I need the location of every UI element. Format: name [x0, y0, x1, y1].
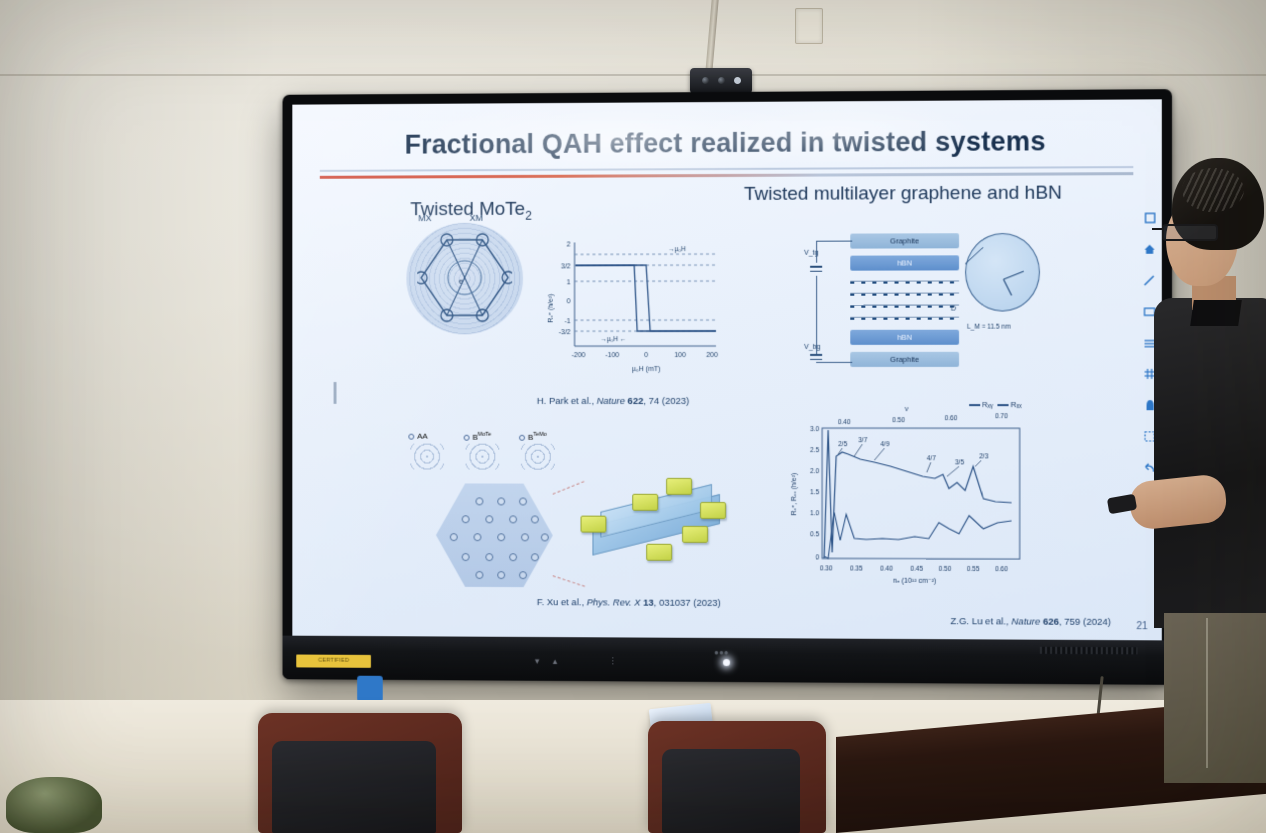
- stack-layer-graphite-top: Graphite: [850, 233, 959, 248]
- callout-detail: [965, 233, 1046, 318]
- hall-bar-device-figure: [575, 472, 734, 582]
- graphene-row-4: [850, 318, 959, 320]
- stack-layer-hbn-top: hBN: [850, 255, 959, 270]
- camera-indicator: [734, 77, 741, 84]
- svg-text:1.0: 1.0: [810, 510, 819, 517]
- legend-swatch-rxx: [997, 404, 1008, 406]
- stacking-configuration-legend: AA BMoTe BTeMo: [408, 432, 566, 478]
- svg-text:4/7: 4/7: [927, 455, 937, 462]
- display-screen[interactable]: Fractional QAH effect realized in twiste…: [292, 99, 1161, 640]
- display-sticker: CERTIFIED: [296, 655, 371, 668]
- svg-text:0.50: 0.50: [892, 417, 905, 424]
- svg-text:-100: -100: [605, 352, 619, 359]
- volume-down-control[interactable]: ▾: [535, 656, 540, 667]
- citation-top-left: H. Park et al., Nature 622, 74 (2023): [537, 396, 689, 407]
- conference-room-scene: Fractional QAH effect realized in twiste…: [0, 0, 1266, 833]
- cite-year: (2023): [693, 598, 720, 609]
- svg-text:1.5: 1.5: [810, 489, 819, 496]
- circuit-wire-top-h: [816, 241, 852, 243]
- cite-journal: Nature: [597, 396, 625, 407]
- moire-site-label-mx: MX: [418, 213, 431, 223]
- circuit-wire-mid: [816, 276, 817, 354]
- svg-text:0.60: 0.60: [945, 415, 958, 422]
- cite-page: 031037: [659, 598, 691, 609]
- volume-up-control[interactable]: ▴: [553, 656, 558, 667]
- display-logo-badge: [357, 676, 383, 702]
- device-contact-2: [632, 494, 658, 511]
- device-contact-4: [700, 502, 726, 519]
- slide-number: 21: [1136, 621, 1147, 632]
- svg-text:0: 0: [567, 298, 571, 305]
- camera-lens-left: [702, 77, 709, 84]
- stack-layer-hbn-bottom: hBN: [850, 330, 959, 345]
- svg-text:2/3: 2/3: [979, 453, 989, 460]
- graphene-row-3: [850, 306, 959, 308]
- cite-authors: H. Park et al.,: [537, 396, 594, 407]
- plant-pot: [6, 777, 102, 833]
- cite-authors: Z.G. Lu et al.,: [950, 616, 1008, 627]
- cite-authors: F. Xu et al.,: [537, 597, 584, 608]
- stacking-item-aa: AA: [408, 432, 427, 441]
- speaker-grill: [1040, 647, 1137, 655]
- svg-text:0.40: 0.40: [838, 419, 851, 426]
- transport-svg: 0.40 0.50 0.60 0.70 ν 3.0 2.5 2.0 1.5: [786, 402, 1038, 588]
- moire-superlattice-dots: [292, 99, 1161, 104]
- svg-text:4/9: 4/9: [880, 441, 889, 448]
- cite-journal: Phys. Rev. X: [587, 597, 641, 608]
- svg-text:2/5: 2/5: [838, 441, 847, 448]
- device-contact-6: [646, 544, 672, 561]
- cite-year: (2024): [1083, 617, 1111, 628]
- stack-layer-graphite-bottom: Graphite: [850, 352, 959, 367]
- cite-page: 759: [1064, 617, 1080, 628]
- svg-text:2.5: 2.5: [810, 447, 819, 454]
- honeycomb-b-temo: [521, 444, 555, 470]
- svg-text:3/2: 3/2: [561, 263, 571, 270]
- presentation-slide: Fractional QAH effect realized in twiste…: [292, 99, 1161, 640]
- svg-text:-1: -1: [564, 318, 570, 325]
- svg-text:0.60: 0.60: [995, 566, 1008, 573]
- svg-text:-200: -200: [572, 352, 586, 359]
- fractional-states-plot: Rₓᵧ Rₓₓ 0.40 0.50 0.60 0.70 ν: [786, 402, 1038, 588]
- moire-wavelength-callout: L_M = 11.5 nm: [967, 324, 1011, 331]
- circuit-wire-bottom-h: [816, 362, 852, 363]
- citation-bottom-right: Z.G. Lu et al., Nature 626, 759 (2024): [950, 616, 1110, 628]
- svg-text:1: 1: [567, 279, 571, 286]
- chair-left-cushion: [272, 741, 436, 833]
- stacking-ring-icon: [408, 434, 414, 440]
- svg-text:0.45: 0.45: [910, 566, 923, 573]
- svg-text:µ₀H (mT): µ₀H (mT): [632, 366, 661, 373]
- cite-year: (2023): [662, 396, 689, 407]
- displacement-field-label: D: [951, 306, 956, 313]
- svg-text:3/7: 3/7: [858, 437, 867, 444]
- svg-text:2.0: 2.0: [810, 468, 819, 475]
- slide-margin-mark: [334, 382, 337, 404]
- menu-control[interactable]: ⋮: [608, 656, 618, 667]
- presenter-pants-seam: [1206, 618, 1208, 768]
- potted-plant: [0, 755, 110, 833]
- battery-bottom: [810, 354, 822, 360]
- cite-volume: 622: [628, 396, 644, 407]
- bottom-gate-label: V_bg: [804, 344, 820, 351]
- device-contact-5: [682, 526, 708, 543]
- legend-label-rxy: Rₓᵧ: [982, 400, 993, 409]
- wall-outlet: [795, 8, 823, 44]
- chair-right: [648, 721, 826, 833]
- circuit-wire-top: [816, 241, 817, 263]
- svg-text:Rₓ ᵉ (h/e²): Rₓ ᵉ (h/e²): [548, 294, 555, 323]
- stacking-ring-icon: [464, 434, 470, 440]
- svg-text:0.35: 0.35: [850, 565, 863, 572]
- presenter-pants: [1164, 613, 1266, 783]
- power-led: [723, 659, 730, 666]
- svg-text:→µ₀H: →µ₀H: [668, 246, 686, 253]
- left-heading-subscript: 2: [525, 209, 532, 223]
- display-bottom-bezel: ▾ ▴ ⋮ ●●● CERTIFIED: [283, 636, 1172, 685]
- svg-text:3/5: 3/5: [955, 459, 965, 466]
- svg-text:ν: ν: [905, 406, 909, 413]
- honeycomb-aa: [410, 444, 444, 470]
- graphene-row-2: [850, 294, 959, 296]
- svg-text:0: 0: [644, 352, 648, 359]
- svg-text:→µ₀H ←: →µ₀H ←: [600, 336, 626, 343]
- camera-bar: [690, 68, 752, 94]
- moire-hexagon-overlay: e: [417, 232, 512, 324]
- cite-page: 74: [649, 396, 660, 407]
- display-bezel: Fractional QAH effect realized in twiste…: [292, 99, 1161, 640]
- presenter-collar: [1190, 300, 1242, 326]
- title-rule-accent: [320, 172, 1134, 179]
- device-contact-3: [581, 516, 607, 533]
- interactive-display[interactable]: Fractional QAH effect realized in twiste…: [283, 89, 1172, 685]
- title-rule-secondary: [320, 166, 1134, 172]
- svg-text:-3/2: -3/2: [559, 329, 571, 336]
- svg-text:0.40: 0.40: [880, 566, 893, 573]
- right-column-heading: Twisted multilayer graphene and hBN: [744, 183, 1062, 206]
- svg-text:0: 0: [816, 554, 820, 561]
- svg-text:0.50: 0.50: [939, 566, 952, 573]
- svg-text:nₑ (10¹² cm⁻²): nₑ (10¹² cm⁻²): [893, 578, 936, 585]
- svg-text:3.0: 3.0: [810, 426, 819, 433]
- legend-label-rxx: Rₓₓ: [1011, 400, 1022, 409]
- presenter: [1148, 158, 1266, 770]
- svg-text:0.55: 0.55: [967, 566, 980, 573]
- citation-bottom-left: F. Xu et al., Phys. Rev. X 13, 031037 (2…: [537, 597, 721, 609]
- presenter-torso: [1154, 298, 1266, 628]
- cite-journal: Nature: [1011, 616, 1040, 627]
- cite-volume: 626: [1043, 617, 1059, 628]
- moire-lattice-figure: e MX XM: [406, 223, 523, 335]
- svg-text:2: 2: [567, 241, 571, 248]
- hall-hysteresis-plot: 2 3/2 1 0 -1 -3/2 -200 -100 0: [539, 234, 728, 384]
- svg-text:0.70: 0.70: [995, 413, 1008, 420]
- honeycomb-b-mote: [466, 444, 500, 470]
- camera-lens-center: [718, 77, 725, 84]
- moire-site-label-xm: XM: [470, 213, 483, 223]
- presenter-glasses: [1162, 224, 1218, 241]
- graphene-row-1: [850, 281, 959, 283]
- svg-text:Rₓ ᵉ, Rₓₓ (h/e²): Rₓ ᵉ, Rₓₓ (h/e²): [791, 473, 798, 516]
- wall-seam-upper: [0, 74, 1266, 76]
- stacking-item-b-temo: BTeMo: [519, 432, 547, 442]
- battery-top: [810, 266, 822, 272]
- heterostructure-stack-figure: Graphite hBN hBN Graphite: [798, 231, 1020, 372]
- display-brandmark: ●●●: [714, 648, 728, 657]
- stacking-ring-icon: [519, 434, 525, 440]
- cite-volume: 13: [643, 598, 654, 609]
- plot-legend: Rₓᵧ Rₓₓ: [969, 400, 1022, 409]
- stacking-item-b-mote: BMoTe: [464, 432, 491, 442]
- svg-text:e: e: [459, 277, 464, 286]
- chair-right-cushion: [662, 749, 800, 833]
- device-contact-1: [666, 478, 692, 495]
- svg-text:200: 200: [706, 352, 718, 359]
- chair-left: [258, 713, 462, 833]
- hysteresis-svg: 2 3/2 1 0 -1 -3/2 -200 -100 0: [539, 234, 728, 384]
- slide-title: Fractional QAH effect realized in twiste…: [292, 126, 1161, 162]
- svg-text:100: 100: [674, 352, 686, 359]
- svg-text:0.30: 0.30: [820, 565, 833, 572]
- legend-swatch-rxy: [969, 404, 980, 406]
- svg-text:0.5: 0.5: [810, 531, 819, 538]
